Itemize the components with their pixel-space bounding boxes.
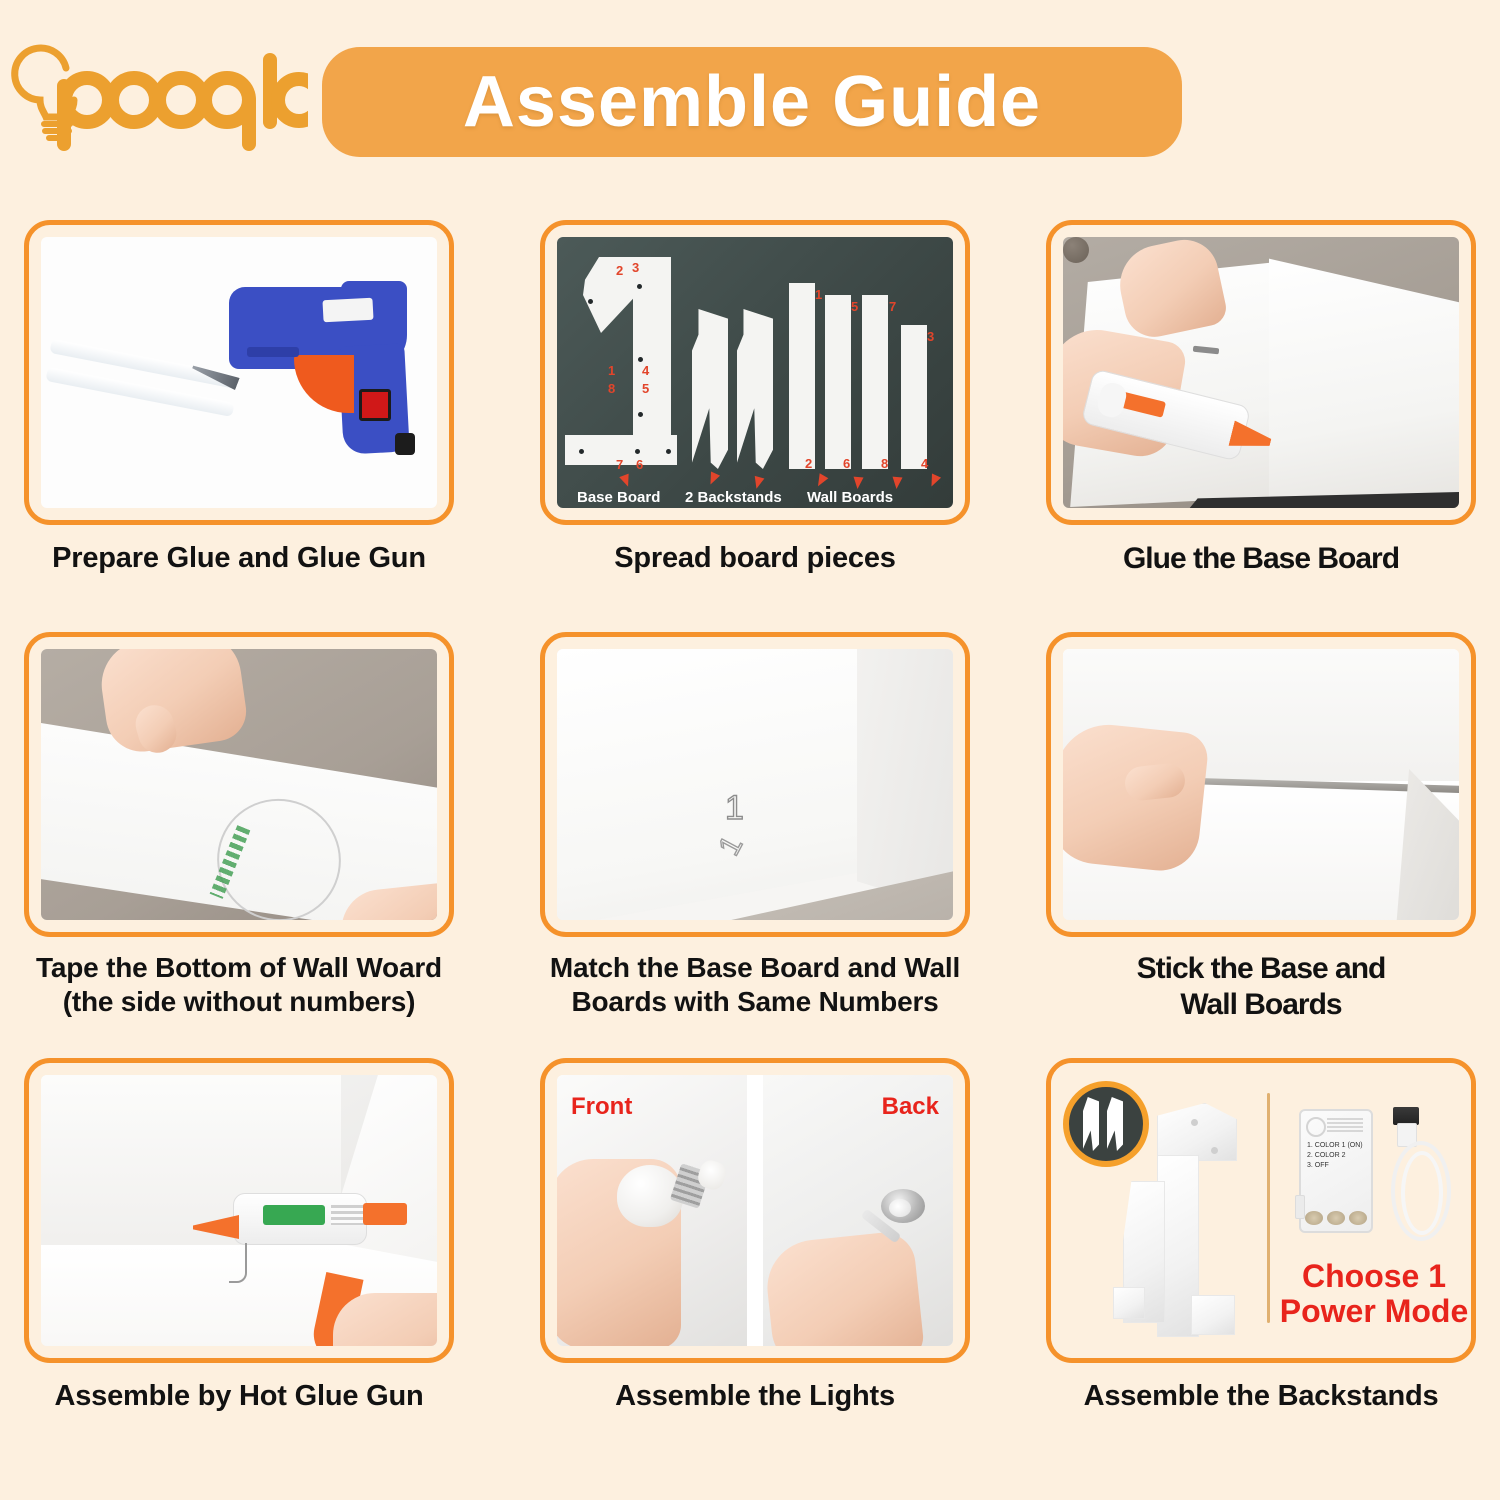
wall-num-4: 4 xyxy=(921,456,928,471)
base-board-piece xyxy=(571,257,671,447)
hand xyxy=(333,1293,437,1346)
front-label: Front xyxy=(571,1093,632,1121)
step-card-8: Front Back Assemble the Lights xyxy=(540,1058,970,1458)
backstand-top-bracket xyxy=(1157,1103,1237,1161)
step-5-caption-line1: Match the Base Board and Wall xyxy=(540,952,970,983)
backstand-foot xyxy=(1191,1295,1235,1335)
step-3-caption: Glue the Base Board xyxy=(1046,542,1476,576)
step-7-photo xyxy=(41,1075,437,1346)
step-card-9: 1. COLOR 1 (ON) 2. COLOR 2 3. OFF Choose… xyxy=(1046,1058,1476,1458)
step-card-5: 1 1 Match the Base Board and Wall Boards… xyxy=(540,632,970,1052)
step-9-caption: Assemble the Backstands xyxy=(1046,1380,1476,1412)
base-num-5: 5 xyxy=(642,381,649,396)
wall-num-3: 3 xyxy=(927,329,934,344)
back-label: Back xyxy=(882,1093,939,1121)
step-4-caption-line2: (the side without numbers) xyxy=(24,986,454,1017)
lightbulb-icon xyxy=(8,38,308,158)
base-num-3: 3 xyxy=(632,260,639,275)
step-6-caption-line2: Wall Boards xyxy=(1046,988,1476,1022)
step-card-6: Stick the Base and Wall Boards xyxy=(1046,632,1476,1052)
panel-divider xyxy=(1267,1093,1270,1323)
brand-logo xyxy=(8,38,308,158)
step-card-2: 2 3 1 8 4 5 7 6 Base Board 2 Backstands xyxy=(540,220,970,620)
board-pieces-diagram: 2 3 1 8 4 5 7 6 Base Board 2 Backstands xyxy=(557,237,953,508)
step-8-caption: Assemble the Lights xyxy=(540,1380,970,1412)
step-6-image-frame xyxy=(1046,632,1476,937)
backstand-inset-icon xyxy=(1063,1081,1149,1167)
wall-num-1: 1 xyxy=(815,287,822,302)
step-2-photo: 2 3 1 8 4 5 7 6 Base Board 2 Backstands xyxy=(557,237,953,508)
wall-num-5: 5 xyxy=(851,299,858,314)
base-num-6: 6 xyxy=(636,457,643,472)
battery-box-modes: 1. COLOR 1 (ON) 2. COLOR 2 3. OFF xyxy=(1307,1141,1363,1171)
step-9-image-frame: 1. COLOR 1 (ON) 2. COLOR 2 3. OFF Choose… xyxy=(1046,1058,1476,1363)
wall-num-6: 6 xyxy=(843,456,850,471)
step-1-image-frame xyxy=(24,220,454,525)
base-num-4: 4 xyxy=(642,363,649,378)
backstand-piece xyxy=(692,309,728,469)
step-5-image-frame: 1 1 xyxy=(540,632,970,937)
step-card-1: Prepare Glue and Glue Gun xyxy=(24,220,454,620)
wall-num-8: 8 xyxy=(881,456,888,471)
backstand-foot xyxy=(1113,1287,1145,1319)
step-card-7: Assemble by Hot Glue Gun xyxy=(24,1058,454,1458)
glue-gun-label xyxy=(322,298,373,323)
step-4-photo xyxy=(41,649,437,920)
page-header: Assemble Guide xyxy=(0,0,1500,200)
step-4-caption-line1: Tape the Bottom of Wall Woard xyxy=(24,952,454,983)
wall-board-piece xyxy=(825,295,851,469)
step-card-3: Glue the Base Board xyxy=(1046,220,1476,620)
wall-board-piece xyxy=(901,325,927,469)
backstand-piece xyxy=(737,309,773,469)
wall-board-piece xyxy=(789,283,815,469)
step-card-4: Tape the Bottom of Wall Woard (the side … xyxy=(24,632,454,1052)
wall-num-7: 7 xyxy=(889,299,896,314)
front-view: Front xyxy=(557,1075,747,1346)
step-9-photo: 1. COLOR 1 (ON) 2. COLOR 2 3. OFF Choose… xyxy=(1051,1063,1471,1358)
step-7-caption: Assemble by Hot Glue Gun xyxy=(24,1380,454,1412)
step-1-caption: Prepare Glue and Glue Gun xyxy=(24,542,454,574)
back-view: Back xyxy=(763,1075,953,1346)
step-4-image-frame xyxy=(24,632,454,937)
bulb-hole xyxy=(1063,237,1089,263)
power-switch xyxy=(359,389,391,421)
step-8-photo: Front Back xyxy=(557,1075,953,1346)
title-banner: Assemble Guide xyxy=(322,47,1182,157)
step-3-photo xyxy=(1063,237,1459,508)
wall-boards-label: Wall Boards xyxy=(807,489,893,506)
usb-cable xyxy=(1389,1107,1447,1235)
battery-box: 1. COLOR 1 (ON) 2. COLOR 2 3. OFF xyxy=(1299,1109,1373,1233)
power-mode-line2: Power Mode xyxy=(1280,1293,1468,1329)
power-mode-line1: Choose 1 xyxy=(1302,1258,1446,1294)
step-5-photo: 1 1 xyxy=(557,649,953,920)
base-board-surface xyxy=(557,649,887,920)
backstands-label: 2 Backstands xyxy=(685,489,782,506)
board-right-face xyxy=(1269,251,1459,505)
glue-stick-feed xyxy=(363,1203,407,1225)
step-6-photo xyxy=(1063,649,1459,920)
page-title: Assemble Guide xyxy=(463,61,1041,143)
step-8-image-frame: Front Back xyxy=(540,1058,970,1363)
base-num-2: 2 xyxy=(616,263,623,278)
step-2-caption: Spread board pieces xyxy=(540,542,970,574)
power-mode-label: Choose 1 Power Mode xyxy=(1279,1259,1469,1329)
base-board-label: Base Board xyxy=(577,489,660,506)
step-1-photo xyxy=(41,237,437,508)
step-6-caption-line1: Stick the Base and xyxy=(1046,952,1476,986)
base-num-7: 7 xyxy=(616,457,623,472)
glue-gun-trigger xyxy=(294,355,354,413)
step-3-image-frame xyxy=(1046,220,1476,525)
step-5-caption-line2: Boards with Same Numbers xyxy=(540,986,970,1017)
base-num-8: 8 xyxy=(608,381,615,396)
step-2-image-frame: 2 3 1 8 4 5 7 6 Base Board 2 Backstands xyxy=(540,220,970,525)
glue-gun-green-label xyxy=(263,1205,325,1225)
steps-grid: Prepare Glue and Glue Gun 2 3 xyxy=(0,200,1500,1500)
wall-board-piece xyxy=(862,295,888,469)
hand xyxy=(763,1230,925,1346)
board-number-mark: 1 xyxy=(725,789,744,828)
step-7-image-frame xyxy=(24,1058,454,1363)
base-num-1: 1 xyxy=(608,363,615,378)
wall-num-2: 2 xyxy=(805,456,812,471)
